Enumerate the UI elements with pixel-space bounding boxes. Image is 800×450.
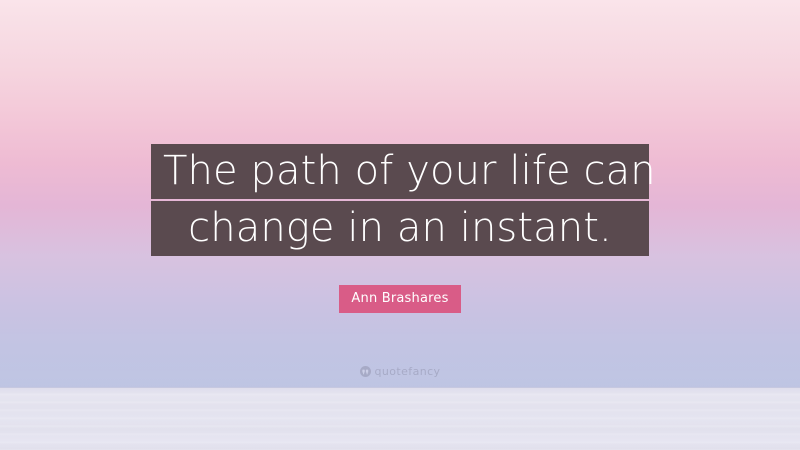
- quote-block: The path of your life can change in an i…: [0, 144, 800, 256]
- quote-line-1: The path of your life can: [151, 144, 649, 199]
- quote-line-2: change in an instant.: [151, 201, 649, 256]
- quote-poster: The path of your life can change in an i…: [0, 0, 800, 450]
- watermark[interactable]: quotefancy: [0, 366, 800, 377]
- ground-texture-bands: [0, 388, 800, 450]
- author-name-badge[interactable]: Ann Brashares: [339, 285, 460, 313]
- author-attribution: Ann Brashares: [0, 285, 800, 313]
- quote-mark-icon: [360, 366, 371, 377]
- watermark-brand-label: quotefancy: [375, 366, 441, 377]
